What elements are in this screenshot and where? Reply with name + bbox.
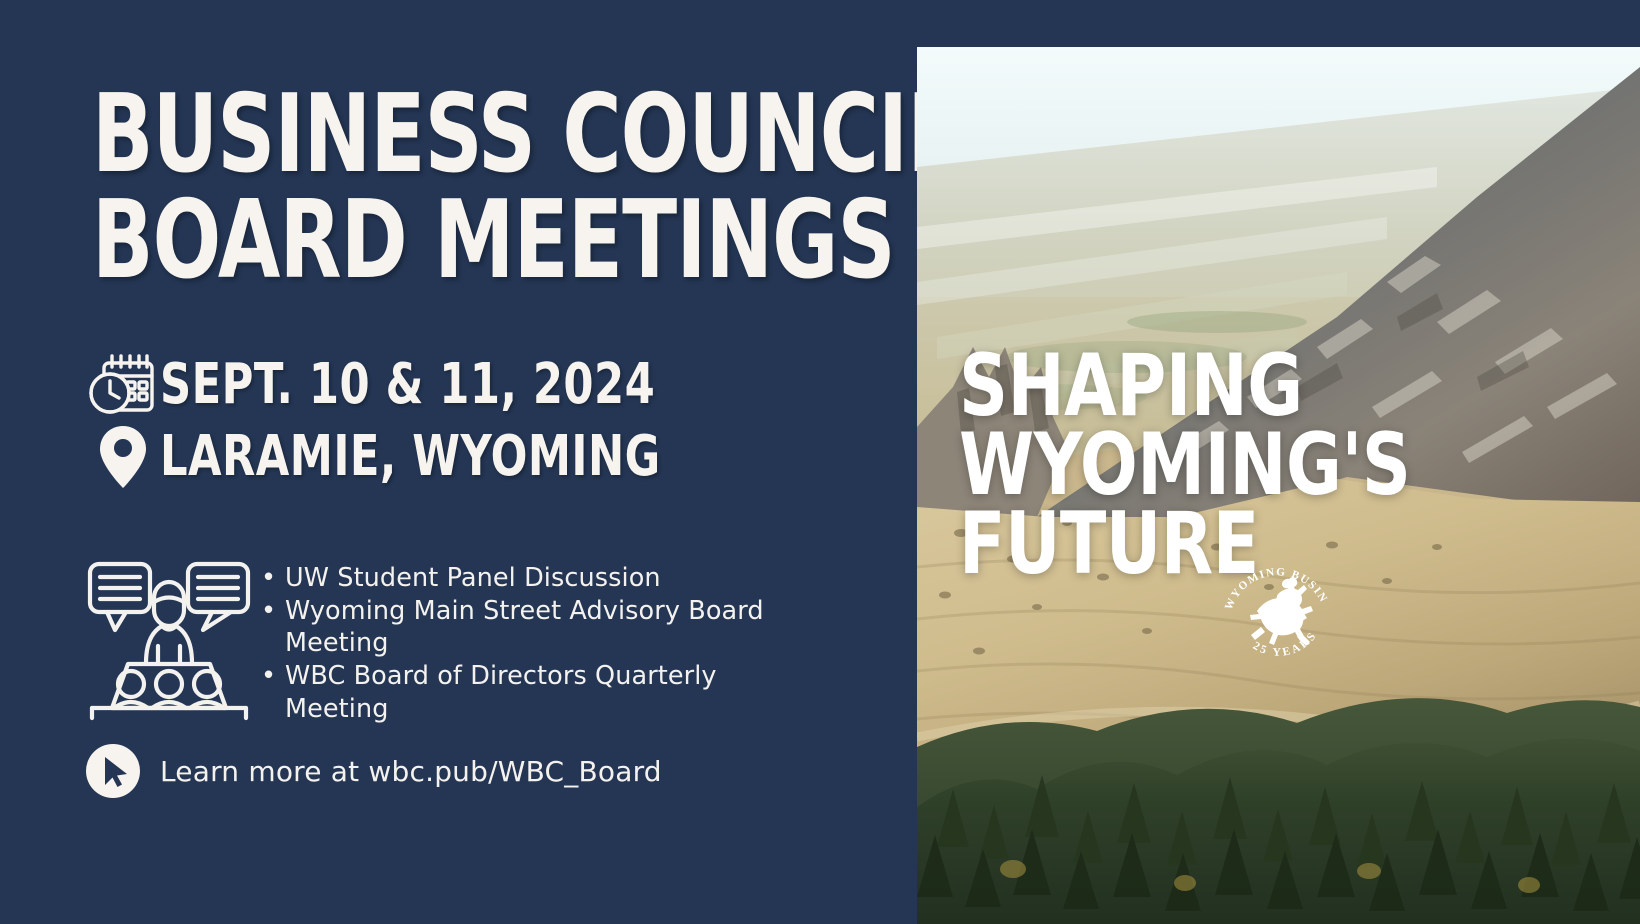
agenda-block: •UW Student Panel Discussion •Wyoming Ma… (84, 550, 804, 726)
page-title: Business Council Board Meetings (92, 82, 748, 294)
list-item: •UW Student Panel Discussion (259, 562, 804, 594)
agenda-list: •UW Student Panel Discussion •Wyoming Ma… (259, 550, 804, 726)
page-title-line-1: Business Council (92, 82, 748, 188)
bucking-horse-icon (1250, 577, 1313, 646)
bullet-marker: • (261, 660, 276, 692)
wyoming-business-council-badge: WYOMING BUSINESS COUNCIL 25 YEARS (1217, 549, 1337, 669)
learn-more-label: Learn more at wbc.pub/WBC_Board (160, 755, 662, 788)
list-item: •Wyoming Main Street Advisory Board Meet… (259, 595, 804, 659)
learn-more-cta[interactable]: Learn more at wbc.pub/WBC_Board (86, 744, 662, 798)
list-item-label: WBC Board of Directors Quarterly Meeting (285, 661, 717, 723)
list-item: •WBC Board of Directors Quarterly Meetin… (259, 660, 804, 724)
event-meta: Sept. 10 & 11, 2024 Laramie, Wyoming (86, 352, 742, 496)
event-date-row: Sept. 10 & 11, 2024 (86, 352, 742, 418)
page-title-line-2: Board Meetings (92, 188, 748, 294)
event-location-row: Laramie, Wyoming (86, 424, 742, 490)
event-date-text: Sept. 10 & 11, 2024 (160, 356, 655, 413)
bullet-marker: • (261, 562, 276, 594)
cursor-click-icon (86, 744, 140, 798)
badge-graphic: WYOMING BUSINESS COUNCIL 25 YEARS (1217, 549, 1337, 669)
map-pin-icon (86, 424, 160, 490)
left-info-panel: Business Council Board Meetings (0, 0, 917, 924)
calendar-clock-icon (86, 352, 160, 418)
panel-discussion-icon (84, 550, 259, 723)
bullet-marker: • (261, 595, 276, 627)
list-item-label: Wyoming Main Street Advisory Board Meeti… (285, 596, 764, 658)
landscape-photo: Shaping Wyoming's Future WYOMING BUSINES… (917, 47, 1640, 924)
event-poster: Business Council Board Meetings (0, 0, 1640, 924)
event-location-text: Laramie, Wyoming (160, 428, 661, 485)
list-item-label: UW Student Panel Discussion (285, 563, 661, 593)
